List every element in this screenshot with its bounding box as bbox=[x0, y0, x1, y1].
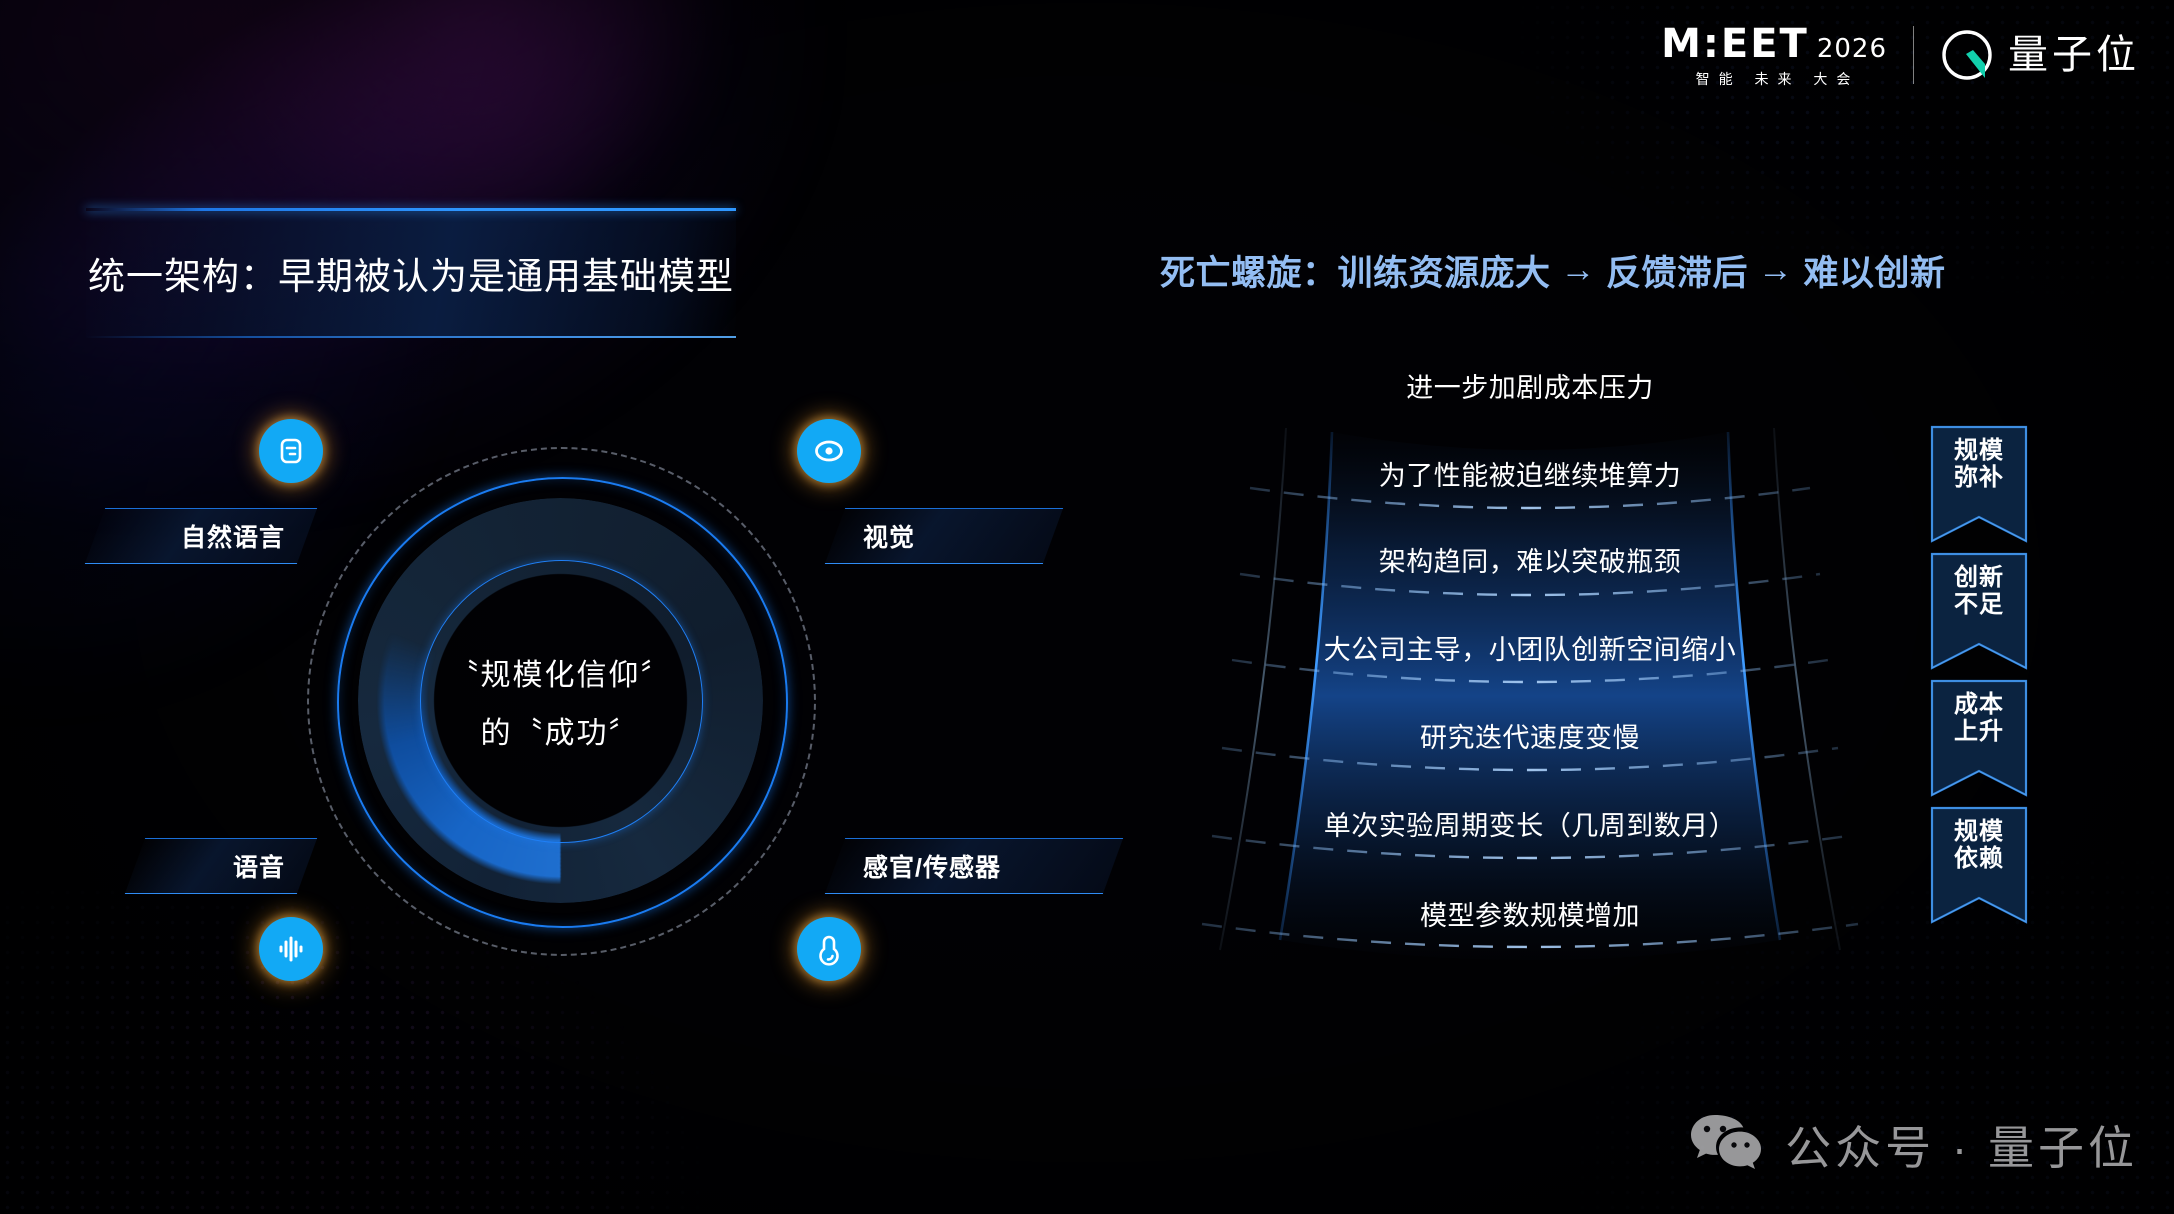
node-label-text: 自然语言 bbox=[181, 518, 285, 554]
watermark-text: 公众号 · 量子位 bbox=[1785, 1112, 2138, 1178]
left-title-banner: 统一架构：早期被认为是通用基础模型 bbox=[86, 208, 736, 338]
badge-line-1: 成本 bbox=[1954, 691, 2004, 718]
text-document-icon[interactable] bbox=[259, 419, 323, 483]
arrow-icon-2: → bbox=[1748, 250, 1804, 290]
death-spiral-funnel: 进一步加剧成本压力 为了性能被迫继续堆算力 架构趋同，难以突破瓶颈 大公司主导，… bbox=[1100, 380, 1960, 990]
badge-line-2: 不足 bbox=[1954, 591, 2004, 618]
audio-waveform-icon[interactable] bbox=[259, 917, 323, 981]
badge-text: 创新 不足 bbox=[1954, 565, 2004, 619]
funnel-row-list: 进一步加剧成本压力 为了性能被迫继续堆算力 架构趋同，难以突破瓶颈 大公司主导，… bbox=[1100, 380, 1960, 990]
funnel-row: 模型参数规模增加 bbox=[1100, 894, 1960, 933]
node-label-voice[interactable]: 语音 bbox=[125, 838, 317, 894]
funnel-row: 研究迭代速度变慢 bbox=[1100, 716, 1960, 755]
right-title-mid: 反馈滞后 bbox=[1606, 245, 1748, 296]
meet-wordmark: M:EET bbox=[1661, 24, 1809, 64]
badge-insufficient-innovation[interactable]: 创新 不足 bbox=[1930, 552, 2028, 683]
badge-text: 成本 上升 bbox=[1954, 692, 2004, 746]
funnel-row: 为了性能被迫继续堆算力 bbox=[1100, 454, 1960, 493]
node-label-natural-language[interactable]: 自然语言 bbox=[85, 508, 317, 564]
arrow-icon-1: → bbox=[1551, 250, 1607, 290]
unified-architecture-diagram: 〝规模化信仰〞 的〝成功〞 bbox=[295, 455, 825, 945]
diagram-center-text: 〝规模化信仰〞 的〝成功〞 bbox=[413, 591, 708, 811]
badge-rising-cost[interactable]: 成本 上升 bbox=[1930, 679, 2028, 810]
badge-line-2: 弥补 bbox=[1954, 464, 2004, 491]
node-label-sensor[interactable]: 感官/传感器 bbox=[825, 838, 1123, 894]
left-title-text: 统一架构：早期被认为是通用基础模型 bbox=[86, 208, 736, 338]
badge-scale-compensation[interactable]: 规模 弥补 bbox=[1930, 425, 2028, 556]
header-logo-bar: M:EET 2026 智能 未来 大会 量子位 bbox=[1661, 16, 2140, 94]
eye-icon[interactable] bbox=[797, 419, 861, 483]
funnel-row: 进一步加剧成本压力 bbox=[1100, 366, 1960, 405]
header-divider bbox=[1913, 26, 1914, 84]
meet-logo-row: M:EET 2026 bbox=[1661, 24, 1887, 64]
q-circle-logo-icon bbox=[1940, 28, 1994, 82]
badge-line-1: 规模 bbox=[1954, 437, 2004, 464]
slide-root: M:EET 2026 智能 未来 大会 量子位 统一架构：早期被认为是通用基础模… bbox=[0, 0, 2174, 1214]
node-label-text: 语音 bbox=[233, 848, 285, 884]
badge-line-2: 上升 bbox=[1954, 718, 2004, 745]
wechat-icon bbox=[1689, 1111, 1763, 1178]
node-label-text: 视觉 bbox=[863, 518, 915, 554]
badge-line-2: 依赖 bbox=[1954, 845, 2004, 872]
right-title: 死亡螺旋：训练资源庞大 → 反馈滞后 → 难以创新 bbox=[1160, 240, 2120, 300]
qbitai-logo: 量子位 bbox=[1940, 28, 2140, 82]
funnel-row: 架构趋同，难以突破瓶颈 bbox=[1100, 540, 1960, 579]
node-label-vision[interactable]: 视觉 bbox=[825, 508, 1063, 564]
meet-subtitle: 智能 未来 大会 bbox=[1689, 72, 1860, 86]
qbitai-wordmark: 量子位 bbox=[2008, 35, 2140, 75]
node-label-text: 感官/传感器 bbox=[863, 848, 1001, 884]
right-title-prefix: 死亡螺旋：训练资源庞大 bbox=[1160, 245, 1551, 296]
badge-scale-dependency[interactable]: 规模 依赖 bbox=[1930, 806, 2028, 937]
thermometer-sensor-icon[interactable] bbox=[797, 917, 861, 981]
badge-text: 规模 弥补 bbox=[1954, 438, 2004, 492]
right-title-end: 难以创新 bbox=[1804, 245, 1946, 296]
badge-line-1: 规模 bbox=[1954, 818, 2004, 845]
center-line-2: 的〝成功〞 bbox=[481, 708, 641, 752]
meet-year: 2026 bbox=[1817, 36, 1887, 64]
badge-text: 规模 依赖 bbox=[1954, 819, 2004, 873]
watermark: 公众号 · 量子位 bbox=[1689, 1111, 2138, 1178]
funnel-row: 大公司主导，小团队创新空间缩小 bbox=[1100, 628, 1960, 667]
badge-line-1: 创新 bbox=[1954, 564, 2004, 591]
meet-logo: M:EET 2026 智能 未来 大会 bbox=[1661, 24, 1887, 86]
center-line-1: 〝规模化信仰〞 bbox=[449, 650, 673, 694]
funnel-row: 单次实验周期变长（几周到数月） bbox=[1100, 804, 1960, 843]
